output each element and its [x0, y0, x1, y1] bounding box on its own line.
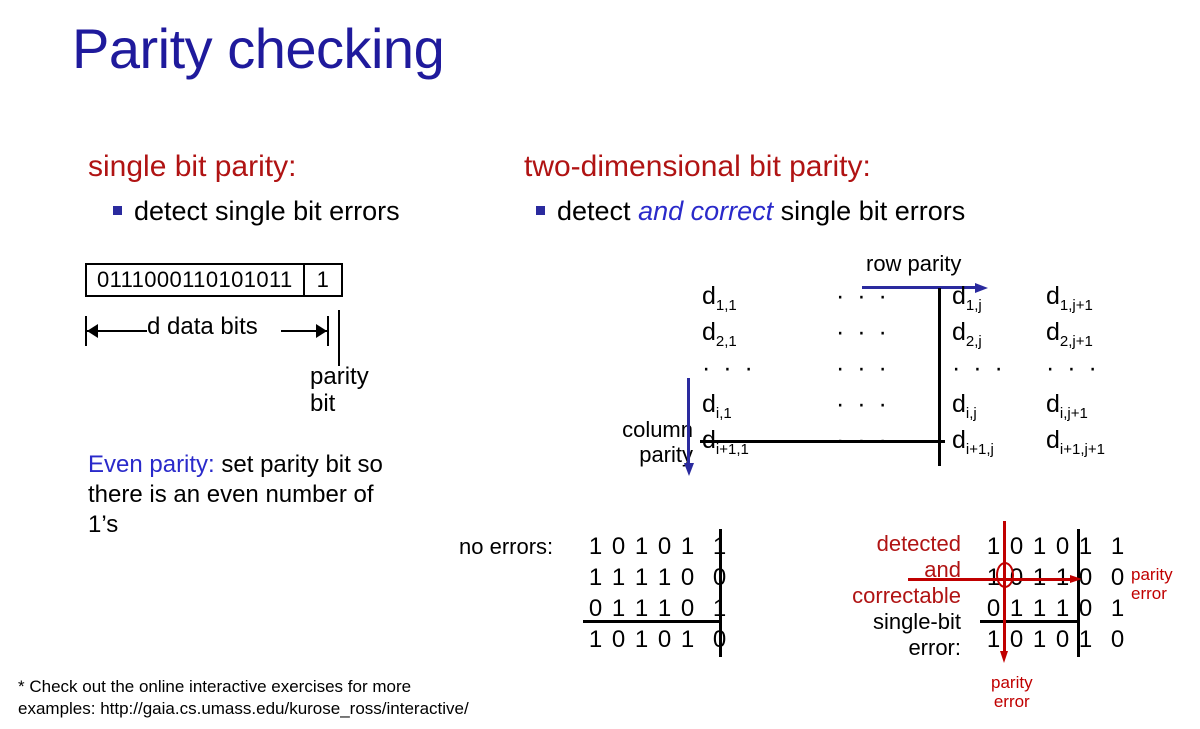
matrix-cell: · · · [836, 390, 890, 419]
footnote-line2: examples: http://gaia.cs.umass.edu/kuros… [18, 698, 578, 720]
arrow-shaft [687, 378, 690, 464]
column-parity-label-line1: column [611, 417, 693, 442]
column-parity-error-arrow-icon [1000, 521, 1009, 663]
square-bullet-icon [536, 206, 545, 215]
matrix-cell: d1,j [952, 282, 982, 314]
arrow-head [1000, 651, 1008, 663]
grid-divider-gap [699, 624, 708, 655]
matrix-cell: di,j+1 [1046, 390, 1088, 422]
grid-row-parity-bit: 1 [1106, 531, 1129, 562]
error-vertical-divider [1077, 529, 1080, 657]
grid-bit: 1 [1028, 531, 1051, 562]
grid-bit: 1 [584, 562, 607, 593]
no-errors-label: no errors: [459, 534, 553, 560]
matrix-cell: · · · [702, 354, 756, 383]
bullet-pre: detect [557, 196, 638, 226]
bullet-label: detect and correct single bit errors [557, 196, 965, 227]
arrow-head [684, 463, 694, 476]
grid-bit: 0 [653, 531, 676, 562]
bullet-label: detect single bit errors [134, 196, 400, 227]
bullet-detect-single-bit-errors: detect single bit errors [113, 196, 400, 227]
grid-row-parity-bit: 0 [1106, 562, 1129, 593]
matrix-cell: · · · [952, 354, 1006, 383]
matrix-cell: · · · [836, 282, 890, 311]
grid-bit: 0 [607, 531, 630, 562]
matrix-cell: d1,j+1 [1046, 282, 1093, 314]
matrix-horizontal-divider [700, 440, 945, 443]
matrix-cell: · · · [836, 354, 890, 383]
no-errors-horizontal-divider [583, 620, 719, 623]
grid-column-parity-bit: 1 [584, 624, 607, 655]
grid-divider-gap [699, 562, 708, 593]
slide-canvas: Parity checking single bit parity: detec… [0, 0, 1200, 729]
matrix-cell: di,j [952, 390, 977, 422]
parity-error-note-right: parity error [1131, 565, 1173, 603]
arrow-shaft [908, 578, 1070, 581]
column-parity-label: column parity [611, 417, 693, 467]
arrow-head [1070, 575, 1082, 583]
grid-bit: 1 [607, 562, 630, 593]
column-parity-arrow-icon [684, 378, 694, 476]
matrix-cell: di+1,j [952, 426, 994, 458]
parity-bit-leader-line [338, 310, 340, 366]
column-parity-label-line2: parity [611, 442, 693, 467]
d-data-bits-measure: d data bits [85, 316, 329, 346]
grid-bit: 1 [584, 531, 607, 562]
row-parity-error-arrow-icon [908, 575, 1082, 584]
grid-column-parity-bit: 1 [1028, 624, 1051, 655]
footnote-line1: * Check out the online interactive exerc… [18, 676, 578, 698]
grid-bit: 1 [653, 562, 676, 593]
bullet-emphasis: and correct [638, 196, 773, 226]
grid-bit: 1 [630, 562, 653, 593]
matrix-cell: d2,j+1 [1046, 318, 1093, 350]
arrow-left-icon [87, 324, 98, 338]
bullet-post: single bit errors [773, 196, 965, 226]
error-label-line3: correctable [826, 583, 961, 609]
page-title: Parity checking [72, 18, 444, 80]
error-label-line4: single-bit [826, 609, 961, 635]
grid-column-parity-bit: 0 [653, 624, 676, 655]
parity-bit-callout-line1: parity [310, 364, 369, 391]
grid-bit: 0 [1051, 531, 1074, 562]
matrix-cell: d1,1 [702, 282, 737, 314]
error-example-label: detected and correctable single-bit erro… [826, 531, 961, 661]
measure-label: d data bits [147, 313, 258, 341]
measure-right-tick [327, 316, 329, 346]
grid-column-parity-bit: 1 [676, 624, 699, 655]
matrix-cell: · · · [836, 318, 890, 347]
matrix-cell: d2,j [952, 318, 982, 350]
parity-bit-value: 1 [303, 265, 341, 295]
parity-bit-callout-line2: bit [310, 391, 369, 418]
section-heading-two-dimensional-bit-parity: two-dimensional bit parity: [524, 150, 871, 184]
square-bullet-icon [113, 206, 122, 215]
row-parity-label: row parity [866, 251, 961, 277]
matrix-cell: · · · [1046, 354, 1100, 383]
grid-divider-gap [1097, 562, 1106, 593]
flipped-bit-highlight-circle [996, 562, 1014, 588]
error-label-line1: detected [826, 531, 961, 557]
no-errors-grid: 101011111100011101101010 [584, 531, 731, 655]
section-heading-single-bit-parity: single bit parity: [88, 150, 296, 184]
matrix-cell: di,1 [702, 390, 732, 422]
arrow-right-icon [316, 324, 327, 338]
parity-error-note-bottom-line1: parity [991, 673, 1033, 692]
grid-corner-parity-bit: 0 [1106, 624, 1129, 655]
matrix-cell: di+1,j+1 [1046, 426, 1105, 458]
data-bits-value: 0111000110101011 [87, 265, 303, 295]
parity-error-note-right-line1: parity [1131, 565, 1173, 584]
grid-divider-gap [1097, 531, 1106, 562]
error-label-line5: error: [826, 635, 961, 661]
parity-bit-callout: parity bit [310, 364, 369, 418]
footnote: * Check out the online interactive exerc… [18, 676, 578, 720]
grid-column-parity-bit: 0 [1051, 624, 1074, 655]
no-errors-vertical-divider [719, 529, 722, 657]
parity-error-note-bottom-line2: error [991, 692, 1033, 711]
grid-bit: 1 [630, 531, 653, 562]
grid-divider-gap [1097, 593, 1106, 624]
matrix-cell: d2,1 [702, 318, 737, 350]
parity-error-note-bottom: parity error [991, 673, 1033, 711]
even-parity-description: Even parity: set parity bit so there is … [88, 450, 388, 539]
grid-bit: 1 [676, 531, 699, 562]
grid-divider-gap [1097, 624, 1106, 655]
error-horizontal-divider [980, 620, 1077, 623]
grid-divider-gap [699, 531, 708, 562]
grid-column-parity-bit: 0 [607, 624, 630, 655]
grid-column-parity-bit: 1 [630, 624, 653, 655]
grid-column-parity-row: 101010 [584, 624, 731, 655]
bullet-detect-and-correct: detect and correct single bit errors [536, 196, 965, 227]
bit-string-box: 0111000110101011 1 [85, 263, 343, 297]
grid-row-parity-bit: 1 [1106, 593, 1129, 624]
grid-row: 101011 [584, 531, 731, 562]
grid-bit: 0 [676, 562, 699, 593]
grid-row: 111100 [584, 562, 731, 593]
parity-error-note-right-line2: error [1131, 584, 1173, 603]
even-parity-keyword: Even parity: [88, 451, 215, 478]
